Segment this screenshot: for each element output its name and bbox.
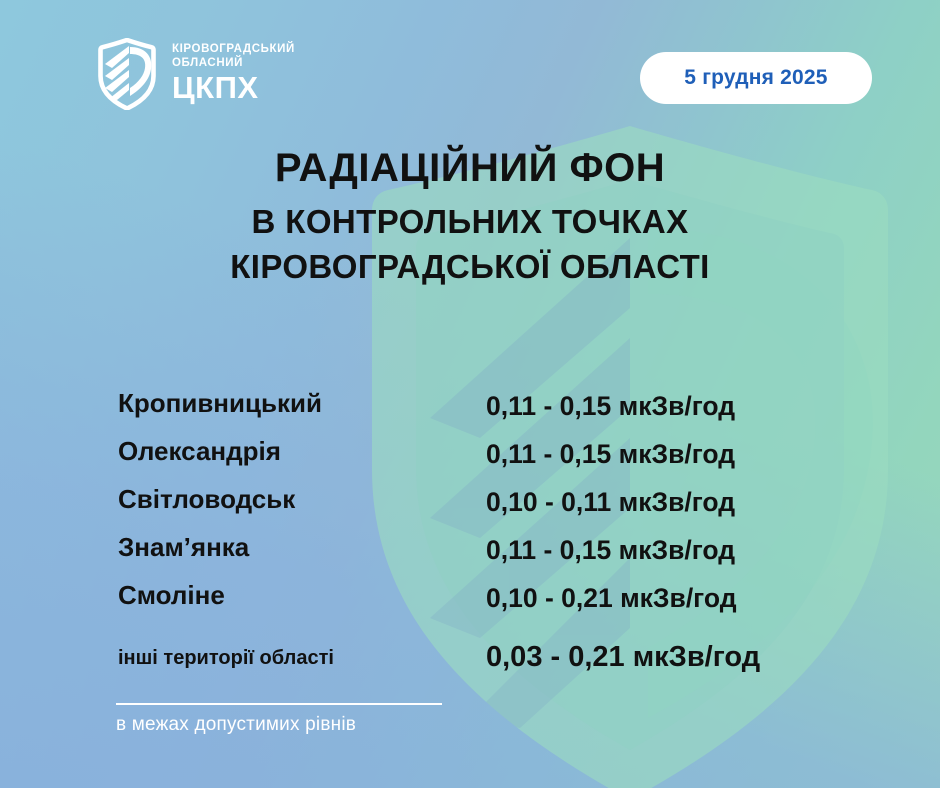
page-title: РАДІАЦІЙНИЙ ФОН В КОНТРОЛЬНИХ ТОЧКАХ КІР…	[0, 146, 940, 287]
table-row: Кропивницький 0,11 - 0,15 мкЗв/год	[0, 388, 940, 436]
other-territories-row: інші території області 0,03 - 0,21 мкЗв/…	[0, 640, 940, 684]
table-row: Смоліне 0,10 - 0,21 мкЗв/год	[0, 580, 940, 628]
other-territories-value: 0,03 - 0,21 мкЗв/год	[486, 640, 760, 674]
reading-place: Знам’янка	[118, 532, 249, 562]
reading-value: 0,10 - 0,11 мкЗв/год	[486, 487, 735, 517]
reading-place: Олександрія	[118, 436, 281, 466]
title-line-3: КІРОВОГРАДСЬКОЇ ОБЛАСТІ	[0, 248, 940, 287]
brand-logo: КІРОВОГРАДСЬКИЙ ОБЛАСНИЙ ЦКПХ	[96, 38, 295, 110]
reading-value: 0,11 - 0,15 мкЗв/год	[486, 535, 735, 565]
brand-wordmark: КІРОВОГРАДСЬКИЙ ОБЛАСНИЙ ЦКПХ	[172, 43, 295, 105]
title-line-1: РАДІАЦІЙНИЙ ФОН	[0, 146, 940, 191]
brand-abbreviation: ЦКПХ	[172, 72, 295, 105]
other-territories-label: інші території області	[118, 646, 334, 670]
footer-divider	[116, 703, 442, 705]
brand-line-1: КІРОВОГРАДСЬКИЙ	[172, 43, 295, 57]
reading-value: 0,11 - 0,15 мкЗв/год	[486, 391, 735, 421]
table-row: Світловодськ 0,10 - 0,11 мкЗв/год	[0, 484, 940, 532]
table-row: Знам’янка 0,11 - 0,15 мкЗв/год	[0, 532, 940, 580]
reading-value: 0,10 - 0,21 мкЗв/год	[486, 583, 737, 613]
date-badge: 5 грудня 2025	[640, 52, 872, 104]
footnote-text: в межах допустимих рівнів	[116, 712, 356, 738]
readings-list: Кропивницький 0,11 - 0,15 мкЗв/год Олекс…	[0, 388, 940, 628]
title-line-2: В КОНТРОЛЬНИХ ТОЧКАХ	[0, 203, 940, 242]
shield-logo-icon	[96, 38, 158, 110]
date-badge-label: 5 грудня 2025	[684, 66, 827, 90]
brand-line-2: ОБЛАСНИЙ	[172, 57, 295, 71]
reading-place: Кропивницький	[118, 388, 322, 418]
table-row: Олександрія 0,11 - 0,15 мкЗв/год	[0, 436, 940, 484]
reading-value: 0,11 - 0,15 мкЗв/год	[486, 439, 735, 469]
reading-place: Світловодськ	[118, 484, 295, 514]
reading-place: Смоліне	[118, 580, 225, 610]
radiation-background-infographic: КІРОВОГРАДСЬКИЙ ОБЛАСНИЙ ЦКПХ 5 грудня 2…	[0, 0, 940, 788]
